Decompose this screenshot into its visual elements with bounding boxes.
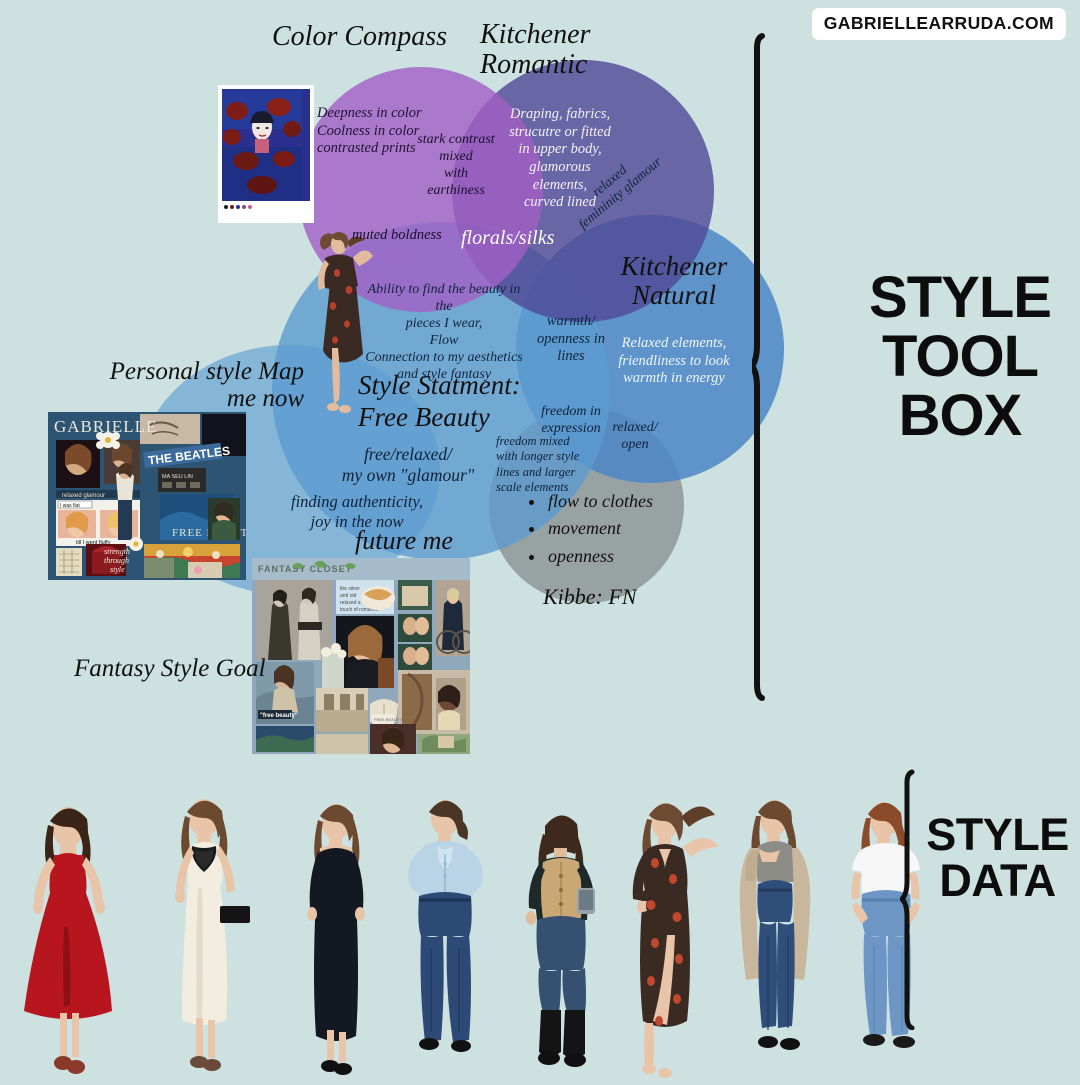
kibbe-fn-list: flow to clothes movement openness <box>528 488 653 570</box>
color-swatch-dots <box>222 205 310 209</box>
text-overlap-florals-silks: florals/silks <box>461 226 554 250</box>
svg-text:FREE BEAUTY: FREE BEAUTY <box>374 717 402 722</box>
text-overlap-stark-contrast: stark contrast mixed with earthiness <box>416 131 496 199</box>
label-personal-style-map: Personal style Map me now <box>64 358 304 412</box>
kibbe-item-label: movement <box>548 515 621 542</box>
site-watermark: GABRIELLEARRUDA.COM <box>812 8 1066 40</box>
text-kitchener-natural-attributes: Relaxed elements, friendliness to look w… <box>612 335 736 388</box>
text-overlap-relaxed-open: relaxed/ open <box>604 419 666 453</box>
artwork-svg <box>222 89 302 201</box>
text-overlap-warmth-openness: warmth/ openness in lines <box>523 313 619 366</box>
outfit-trench-coat-jeans <box>720 788 832 1080</box>
svg-text:relaxed glamour: relaxed glamour <box>62 493 105 499</box>
svg-text:FANTASY CLOSET: FANTASY CLOSET <box>258 564 352 574</box>
label-color-compass: Color Compass <box>272 22 447 52</box>
title-style-tool-box: STYLE TOOL BOX <box>845 268 1075 445</box>
svg-text:the silver: the silver <box>340 586 360 592</box>
color-compass-artwork <box>218 85 314 223</box>
svg-text:MA SEU LIN: MA SEU LIN <box>162 474 193 480</box>
collage-image: GABRIELLE relaxed glamour I was flat til… <box>48 412 246 580</box>
text-overlap-finding-authenticity: finding authenticity, joy in the now <box>262 492 452 532</box>
collage-fantasy-style-goal: FANTASY CLOSET the silver and old relaxe… <box>252 558 470 754</box>
infographic-canvas: GABRIELLEARRUDA.COM <box>0 0 1080 1080</box>
artwork-image <box>222 89 310 201</box>
text-overlap-freedom-expression: freedom in expression <box>531 403 611 437</box>
outfit-tan-vest-boots <box>505 800 621 1080</box>
collage-image: FANTASY CLOSET the silver and old relaxe… <box>252 558 470 754</box>
outfit-black-knit-maxi-dress <box>290 792 386 1080</box>
svg-text:I was flat: I was flat <box>60 503 80 509</box>
label-kitchener-natural: Kitchener Natural <box>604 252 744 310</box>
label-kitchener-romantic: Kitchener Romantic <box>480 20 590 80</box>
list-item: openness <box>546 543 653 570</box>
title-style-data: STYLE DATA <box>915 812 1080 904</box>
svg-text:"free beauty": "free beauty" <box>260 713 298 719</box>
outfit-white-slip-dress <box>150 788 260 1080</box>
list-item: flow to clothes <box>546 488 653 515</box>
kibbe-item-label: flow to clothes <box>548 488 653 515</box>
text-color-compass-attributes: Deepness in color Coolness in color cont… <box>317 105 422 158</box>
outfit-blue-shirt-jeans <box>385 788 505 1080</box>
collage-personal-style-map: GABRIELLE relaxed glamour I was flat til… <box>48 412 246 580</box>
svg-text:relaxed a: relaxed a <box>340 600 361 606</box>
style-data-outfit-row <box>0 760 900 1080</box>
text-overlap-muted-boldness: muted boldness <box>352 227 442 245</box>
text-overlap-freedom-mixed: freedom mixed with longer style lines an… <box>496 434 590 495</box>
svg-text:style: style <box>110 565 125 574</box>
list-item: movement <box>546 515 653 542</box>
label-kibbe-fn: Kibbe: FN <box>543 585 637 609</box>
label-fantasy-style-goal: Fantasy Style Goal <box>74 655 266 682</box>
svg-text:through: through <box>104 556 129 565</box>
svg-text:strength: strength <box>104 547 130 556</box>
kibbe-item-label: openness <box>548 543 614 570</box>
text-overlap-free-relaxed: free/relaxed/ my own "glamour" <box>312 444 504 487</box>
svg-text:and old: and old <box>340 593 357 599</box>
brace-style-tool-box <box>752 30 808 715</box>
outfit-red-midi-dress <box>10 795 130 1080</box>
text-style-statement-attributes: Ability to find the beauty in the pieces… <box>360 281 528 383</box>
outfit-floral-slit-dress <box>615 785 731 1080</box>
